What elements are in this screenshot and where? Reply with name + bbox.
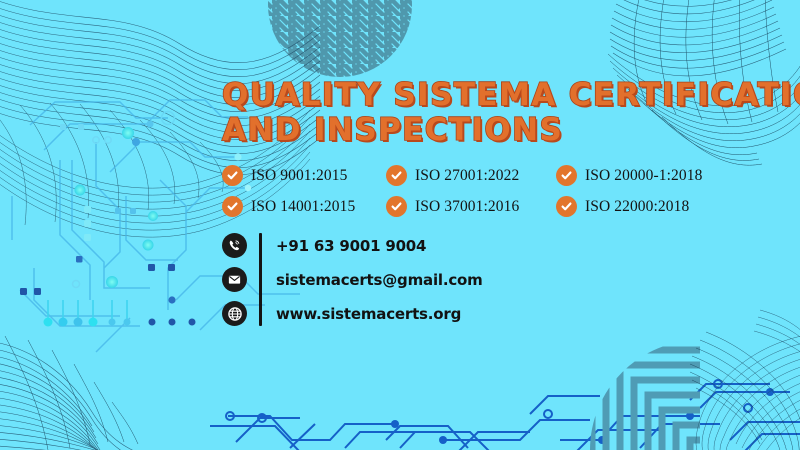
certification-item-iso-20000-1: ISO 20000-1:2018 [556,165,752,186]
envelope-icon[interactable] [222,267,247,292]
certification-item-iso-14001: ISO 14001:2015 [222,196,386,217]
contact-text-column: +91 63 9001 9004 sistemacerts@gmail.com … [276,233,483,326]
circuit-pin-group [44,300,196,327]
check-circle-icon [386,196,407,217]
certification-item-iso-9001: ISO 9001:2015 [222,165,386,186]
certification-label: ISO 20000-1:2018 [585,167,702,185]
contact-email[interactable]: sistemacerts@gmail.com [276,267,483,292]
check-circle-icon [556,165,577,186]
bottom-circuit-traces [210,384,800,450]
certification-label: ISO 37001:2016 [415,198,519,216]
bottom-right-striped-arc [564,345,700,450]
check-circle-icon [386,165,407,186]
check-circle-icon [222,196,243,217]
title-line-2: AND INSPECTIONS [222,113,752,148]
title-line-1: QUALITY SISTEMA CERTIFICATIONS [222,77,800,113]
certification-label: ISO 9001:2015 [251,167,347,185]
certification-label: ISO 22000:2018 [585,198,689,216]
bottom-left-wireframe-wave [0,336,160,450]
check-circle-icon [222,165,243,186]
contact-phone[interactable]: +91 63 9001 9004 [276,233,483,258]
contact-website[interactable]: www.sistemacerts.org [276,301,483,326]
certification-item-iso-22000: ISO 22000:2018 [556,196,752,217]
contact-icon-column [222,233,259,326]
certification-label: ISO 27001:2022 [415,167,519,185]
contact-block: +91 63 9001 9004 sistemacerts@gmail.com … [222,233,752,326]
phone-icon[interactable] [222,233,247,258]
bottom-right-wireframe-swirl [690,310,800,450]
poster-content: QUALITY SISTEMA CERTIFICATIONS AND INSPE… [222,78,752,326]
contact-divider [259,233,262,326]
check-circle-icon [556,196,577,217]
certification-list: ISO 9001:2015 ISO 27001:2022 ISO 20000-1… [222,165,752,217]
certification-label: ISO 14001:2015 [251,198,355,216]
page-title: QUALITY SISTEMA CERTIFICATIONS AND INSPE… [222,78,752,148]
globe-icon[interactable] [222,301,247,326]
chevron-striped-halfcircle [255,0,435,80]
certification-item-iso-37001: ISO 37001:2016 [386,196,556,217]
certification-item-iso-27001: ISO 27001:2022 [386,165,556,186]
poster-canvas: QUALITY SISTEMA CERTIFICATIONS AND INSPE… [0,0,800,450]
